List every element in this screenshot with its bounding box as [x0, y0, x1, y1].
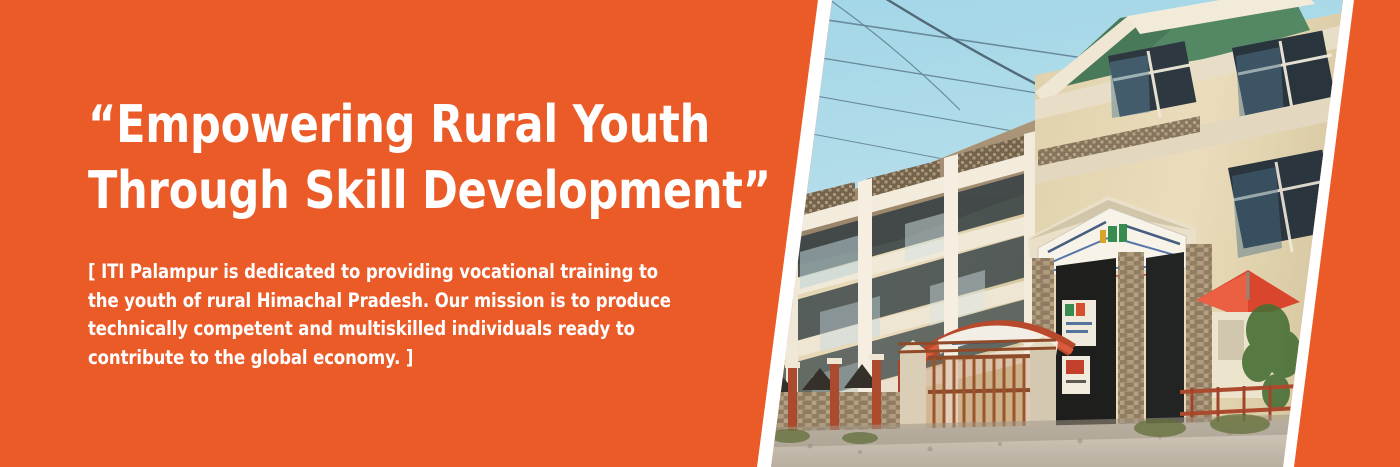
description-line-1: [ ITI Palampur is dedicated to providing… — [88, 258, 652, 287]
description-line-4: contribute to the global economy. ] — [88, 344, 652, 373]
banner-text-column: “Empowering Rural Youth Through Skill De… — [88, 0, 708, 467]
description-line-3: technically competent and multiskilled i… — [88, 315, 652, 344]
description-line-2: the youth of rural Himachal Pradesh. Our… — [88, 287, 652, 316]
banner-description: [ ITI Palampur is dedicated to providing… — [88, 258, 652, 372]
hero-banner: “Empowering Rural Youth Through Skill De… — [0, 0, 1400, 467]
banner-headline: “Empowering Rural Youth Through Skill De… — [88, 92, 640, 224]
headline-line-2: Through Skill Development” — [88, 158, 640, 224]
headline-line-1: “Empowering Rural Youth — [88, 92, 640, 158]
